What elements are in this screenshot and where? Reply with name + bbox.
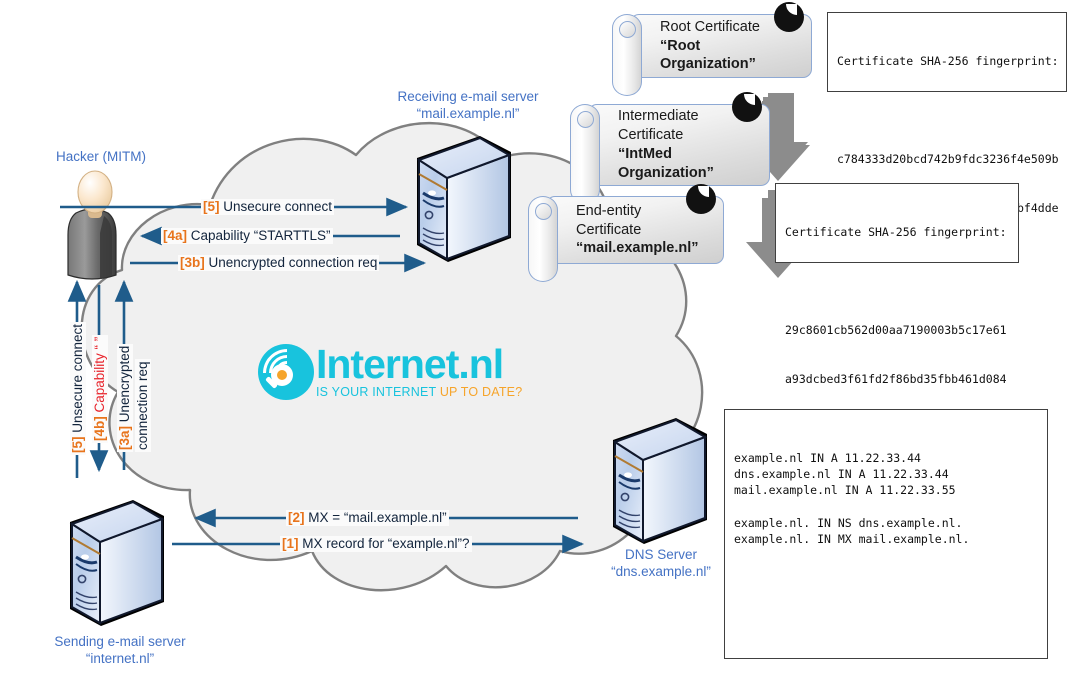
receiving-server-label: Receiving e-mail server “mail.example.nl… bbox=[370, 88, 566, 123]
message-text: Unsecure connect bbox=[220, 199, 333, 214]
cert-root-scroll-roll bbox=[612, 14, 642, 96]
dns-records-box: example.nl IN A 11.22.33.44 dns.example.… bbox=[724, 409, 1048, 659]
step-tag: [4b] bbox=[92, 416, 107, 441]
diagram-canvas: Hacker (MITM) Receiving e-mail server “m… bbox=[0, 0, 1074, 679]
step-tag: [4a] bbox=[163, 228, 187, 243]
root-fingerprint-heading: Certificate SHA-256 fingerprint: bbox=[837, 53, 1057, 69]
receiving-server-icon bbox=[417, 136, 511, 262]
message-5-top: [5] Unsecure connect bbox=[201, 199, 334, 215]
end-entity-fingerprint-heading: Certificate SHA-256 fingerprint: bbox=[785, 224, 1009, 240]
end-entity-fingerprint-box: Certificate SHA-256 fingerprint: 29c8601… bbox=[775, 183, 1019, 263]
dns-server-icon bbox=[613, 418, 707, 544]
step-tag: [3a] bbox=[117, 426, 132, 450]
logo-tagline-accent: UP TO DATE? bbox=[440, 385, 523, 399]
root-fingerprint-box: Certificate SHA-256 fingerprint: c784333… bbox=[827, 12, 1067, 92]
message-3b: [3b] Unencrypted connection req bbox=[178, 255, 379, 271]
step-tag: [1] bbox=[282, 536, 299, 551]
message-2: [2] MX = “mail.example.nl” bbox=[286, 510, 449, 526]
cert-end-entity[interactable]: End-entity Certificate “mail.example.nl” bbox=[528, 196, 724, 282]
cert-intermediate-scroll-roll bbox=[570, 104, 600, 204]
cert-root[interactable]: Root Certificate “Root Organization” bbox=[612, 14, 812, 96]
message-text: Capability “STARTTLS” bbox=[187, 228, 331, 243]
message-5-vertical: [5] Unsecure connect bbox=[70, 322, 86, 455]
step-tag: [3b] bbox=[180, 255, 205, 270]
sending-server-icon bbox=[70, 500, 164, 626]
cert-intermediate[interactable]: Intermediate Certificate “IntMed Organiz… bbox=[570, 104, 770, 204]
sending-server-label: Sending e-mail server “internet.nl” bbox=[22, 633, 218, 668]
cert-intermediate-text: Intermediate Certificate “IntMed Organiz… bbox=[618, 104, 754, 186]
logo-wordmark: Internet.nl bbox=[316, 345, 522, 384]
logo-tagline-primary: IS YOUR INTERNET bbox=[316, 385, 436, 399]
cert-end-entity-seal-icon bbox=[686, 184, 716, 214]
message-text: Capability “ ” bbox=[92, 337, 107, 417]
message-3a-vertical: [3a] Unencrypted bbox=[117, 344, 133, 452]
internet-nl-logo-icon bbox=[258, 344, 314, 400]
root-fingerprint-line1: c784333d20bcd742b9fdc3236f4e509b bbox=[837, 151, 1057, 167]
message-text: Unsecure connect bbox=[70, 324, 85, 437]
message-3a-vertical-line2: connection req bbox=[135, 359, 151, 452]
dns-server-label: DNS Server “dns.example.nl” bbox=[578, 546, 744, 581]
hacker-icon bbox=[68, 171, 116, 279]
internet-nl-logo: Internet.nl IS YOUR INTERNET UP TO DATE? bbox=[258, 344, 522, 400]
hacker-label: Hacker (MITM) bbox=[27, 148, 175, 165]
cert-root-seal-icon bbox=[774, 2, 804, 32]
message-text: MX record for “example.nl”? bbox=[299, 536, 470, 551]
step-tag: [5] bbox=[70, 437, 85, 454]
dns-records-text: example.nl IN A 11.22.33.44 dns.example.… bbox=[734, 450, 1038, 548]
message-4a: [4a] Capability “STARTTLS” bbox=[161, 228, 333, 244]
logo-tagline: IS YOUR INTERNET UP TO DATE? bbox=[316, 385, 522, 399]
message-text: Unencrypted bbox=[117, 346, 132, 426]
step-tag: [2] bbox=[288, 510, 305, 525]
cert-intermediate-seal-icon bbox=[732, 92, 762, 122]
end-entity-fingerprint-line1: 29c8601cb562d00aa7190003b5c17e61 bbox=[785, 322, 1009, 338]
step-tag: [5] bbox=[203, 199, 220, 214]
message-4b-vertical: [4b] Capability “ ” bbox=[92, 335, 108, 443]
cert-end-entity-scroll-roll bbox=[528, 196, 558, 282]
message-1: [1] MX record for “example.nl”? bbox=[280, 536, 472, 552]
message-text: connection req bbox=[135, 361, 150, 450]
message-text: MX = “mail.example.nl” bbox=[305, 510, 447, 525]
message-text: Unencrypted connection req bbox=[205, 255, 378, 270]
end-entity-fingerprint-line2: a93dcbed3f61fd2f86bd35fbb461d084 bbox=[785, 371, 1009, 387]
